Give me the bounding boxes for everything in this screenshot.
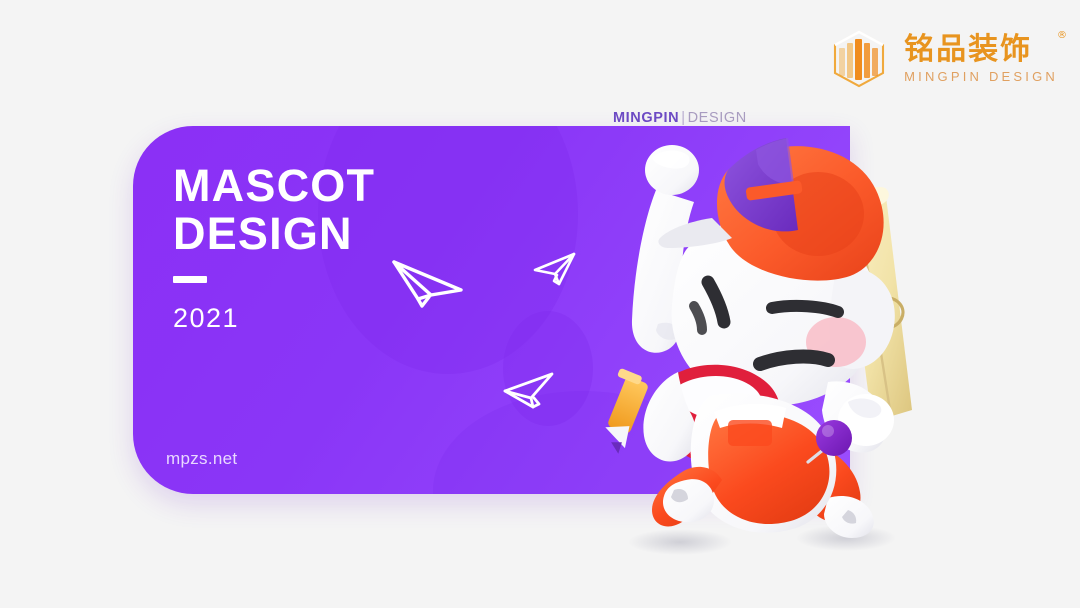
brand-logo: 铭品装饰® MINGPIN DESIGN — [826, 28, 1058, 90]
card-title-line-1: MASCOT — [173, 162, 375, 210]
card-title-block: MASCOT DESIGN 2021 — [173, 162, 375, 334]
brand-name-en: MINGPIN DESIGN — [904, 69, 1058, 84]
overalls-pocket — [728, 420, 772, 446]
paper-plane-large — [391, 256, 465, 318]
elephant-mascot-illustration — [560, 110, 980, 580]
mascot-eye-right — [760, 357, 828, 364]
mascot-leg-left — [652, 467, 722, 527]
mascot-eyebrow — [772, 306, 838, 312]
elephant-mascot — [560, 110, 980, 580]
card-title-line-2: DESIGN — [173, 210, 375, 258]
title-underline-dash — [173, 276, 207, 283]
card-year: 2021 — [173, 303, 375, 334]
pencil — [601, 368, 649, 454]
brand-name-cn: 铭品装饰® — [904, 34, 1058, 66]
mascot-body — [691, 394, 837, 533]
paper-plane-small-bottom — [503, 371, 555, 413]
foot-shadow-left — [628, 529, 732, 555]
paper-plane-icon — [503, 371, 555, 413]
paper-plane-icon — [391, 256, 465, 318]
registered-mark: ® — [1057, 31, 1069, 42]
mingpin-cube-logo-icon — [826, 28, 892, 90]
slide-canvas: 铭品装饰® MINGPIN DESIGN MINGPIN|DESIGN MASC… — [0, 0, 1080, 608]
pin-head-icon — [816, 420, 852, 456]
card-url: mpzs.net — [166, 449, 237, 469]
